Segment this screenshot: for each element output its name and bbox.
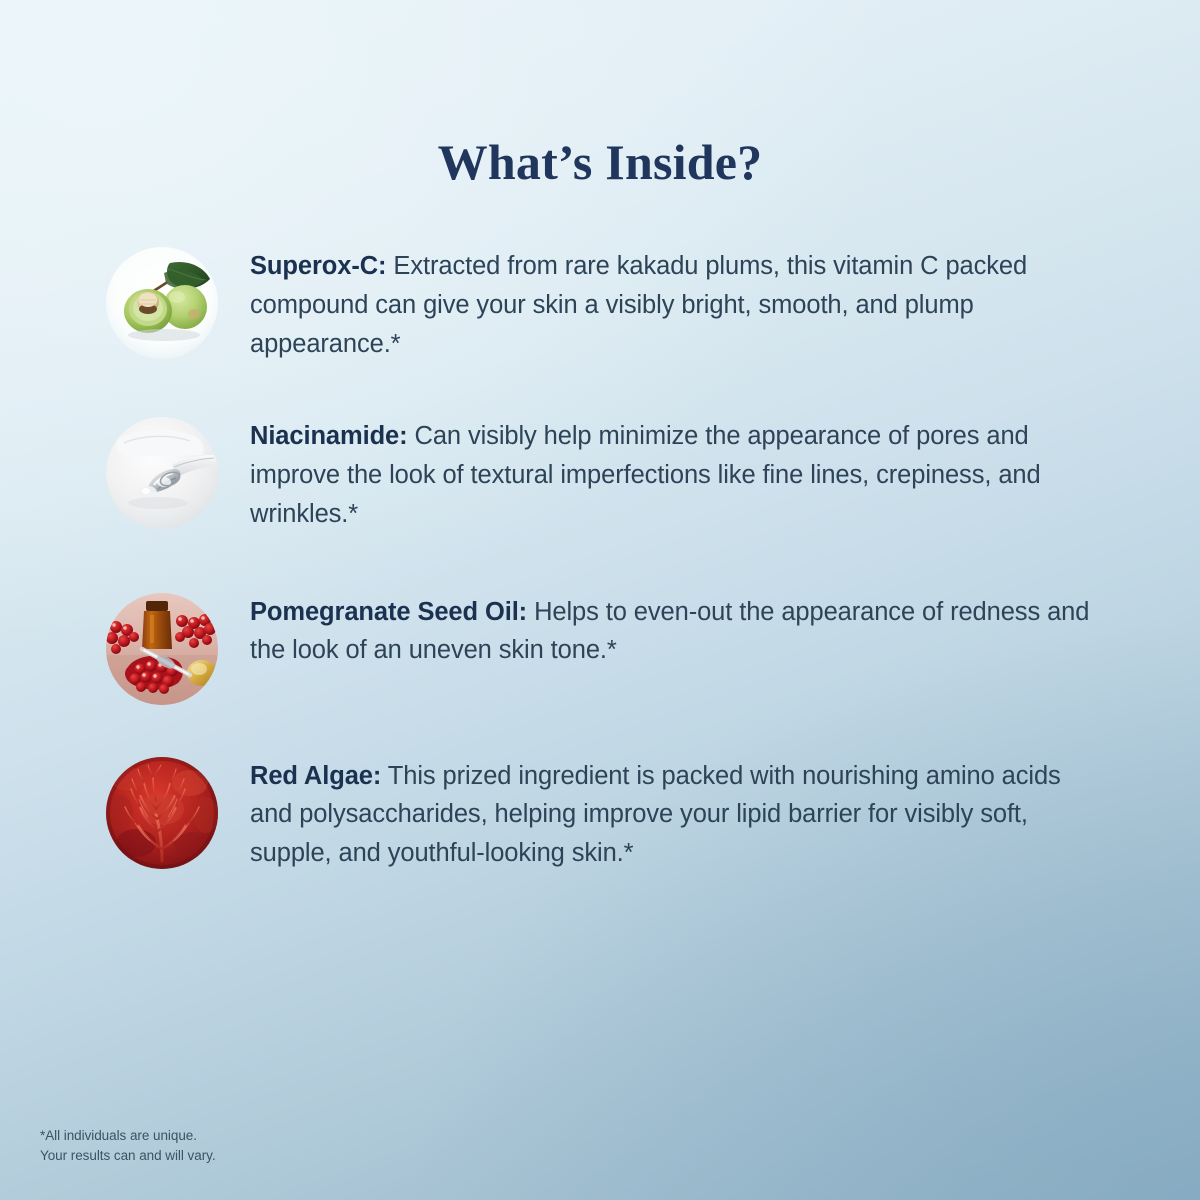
list-item: Pomegranate Seed Oil: Helps to even-out … <box>0 589 1200 705</box>
ingredient-label: Pomegranate Seed Oil: <box>250 598 527 626</box>
list-item: Superox-C: Extracted from rare kakadu pl… <box>0 243 1200 363</box>
serum-dropper-photo <box>106 417 218 529</box>
disclaimer-line-2: Your results can and will vary. <box>40 1146 216 1166</box>
ingredient-label: Niacinamide: <box>250 422 408 450</box>
kakadu-plum-photo <box>106 247 218 359</box>
disclaimer: *All individuals are unique. Your result… <box>40 1126 216 1165</box>
ingredient-text: Superox-C: Extracted from rare kakadu pl… <box>250 243 1095 363</box>
list-item: Red Algae: This prized ingredient is pac… <box>0 753 1200 873</box>
ingredient-text: Pomegranate Seed Oil: Helps to even-out … <box>250 589 1095 671</box>
ingredient-label: Red Algae: <box>250 762 381 790</box>
page-title: What’s Inside? <box>0 133 1200 191</box>
ingredient-text: Niacinamide: Can visibly help minimize t… <box>250 413 1095 533</box>
red-algae-photo <box>106 757 218 869</box>
whats-inside-panel: What’s Inside? <box>0 0 1200 1200</box>
ingredient-text: Red Algae: This prized ingredient is pac… <box>250 753 1095 873</box>
pomegranate-seed-oil-photo <box>106 593 218 705</box>
list-item: Niacinamide: Can visibly help minimize t… <box>0 413 1200 533</box>
ingredient-label: Superox-C: <box>250 252 386 280</box>
disclaimer-line-1: *All individuals are unique. <box>40 1126 216 1146</box>
ingredient-list: Superox-C: Extracted from rare kakadu pl… <box>0 243 1200 873</box>
